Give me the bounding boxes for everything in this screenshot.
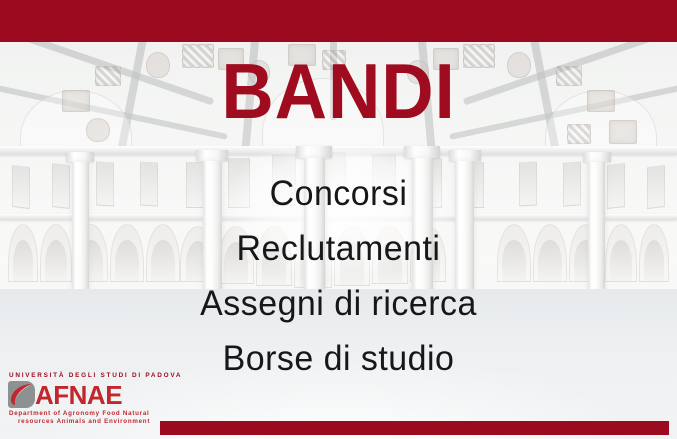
logo-tagline-line2: resources Animals and Environment bbox=[18, 418, 178, 425]
bottom-red-bar bbox=[160, 421, 669, 435]
logo-mark: AFNAE bbox=[8, 381, 178, 408]
page-title: BANDI bbox=[24, 52, 654, 130]
subtitle-concorsi: Concorsi bbox=[10, 176, 667, 211]
subtitle-assegni-di-ricerca: Assegni di ricerca bbox=[10, 286, 667, 321]
dafnae-d-leaf-icon bbox=[8, 381, 35, 408]
dafnae-logo: UNIVERSITÀ DEGLI STUDI DI PADOVA AFNAE D… bbox=[8, 372, 178, 425]
logo-tagline-line1: Department of Agronomy Food Natural bbox=[9, 410, 178, 417]
top-red-bar bbox=[0, 0, 677, 42]
logo-acronym: AFNAE bbox=[35, 382, 122, 408]
subtitle-borse-di-studio: Borse di studio bbox=[10, 341, 667, 376]
logo-university-line: UNIVERSITÀ DEGLI STUDI DI PADOVA bbox=[9, 372, 178, 379]
subtitle-reclutamenti: Reclutamenti bbox=[10, 231, 667, 266]
bandi-banner: BANDI Concorsi Reclutamenti Assegni di r… bbox=[0, 0, 677, 439]
